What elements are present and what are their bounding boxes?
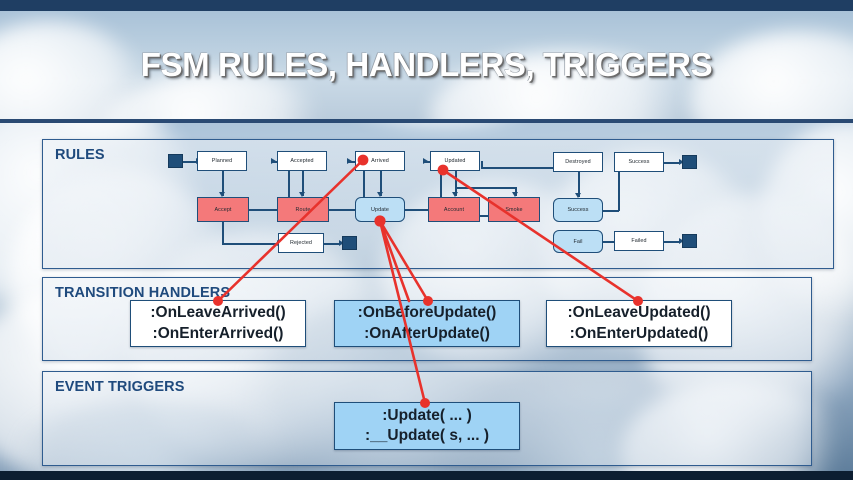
fsm-node-label: Destroyed [565, 159, 590, 165]
edge-rejected-end [324, 243, 340, 245]
fsm-node-route[interactable]: Route [277, 197, 329, 222]
arrowhead [423, 158, 428, 164]
fsm-node-end2[interactable] [682, 155, 697, 169]
handler-box-arrived[interactable]: :OnLeaveArrived() :OnEnterArrived() [130, 300, 306, 347]
fsm-node-start1[interactable] [168, 154, 183, 168]
arrowhead [347, 158, 352, 164]
section-title-triggers: EVENT TRIGGERS [55, 379, 185, 395]
fsm-node-success-action[interactable]: Success [553, 198, 603, 222]
handler-line-1: :OnLeaveUpdated() [568, 303, 711, 323]
fsm-node-success-state[interactable]: Success [614, 152, 664, 172]
fsm-node-accept[interactable]: Accept [197, 197, 249, 222]
edge-successB-end [664, 162, 680, 164]
fsm-node-label: Success [567, 207, 588, 213]
fsm-node-label: Account [444, 207, 464, 213]
fsm-node-rejected[interactable]: Rejected [278, 233, 324, 253]
edge-updated-split [455, 187, 516, 189]
fsm-node-update[interactable]: Update [355, 197, 405, 222]
bottom-accent-bar [0, 471, 853, 480]
fsm-node-label: Updated [444, 158, 465, 164]
arrowhead [271, 158, 276, 164]
handler-line-2: :OnEnterUpdated() [570, 324, 709, 344]
fsm-node-destroyed[interactable]: Destroyed [553, 152, 603, 172]
edge-start-planned [183, 161, 197, 163]
edge-updated-branch [481, 161, 483, 168]
fsm-node-fail[interactable]: Fail [553, 230, 603, 253]
fsm-node-label: Smoke [505, 207, 522, 213]
fsm-node-account[interactable]: Account [428, 197, 480, 222]
fsm-node-planned[interactable]: Planned [197, 151, 247, 171]
fsm-node-label: Accepted [290, 158, 313, 164]
edge-accept-rejected [222, 243, 278, 245]
fsm-node-label: Failed [631, 238, 646, 244]
fsm-node-updated[interactable]: Updated [430, 151, 480, 171]
fsm-node-label: Fail [573, 239, 582, 245]
fsm-node-label: Planned [212, 158, 232, 164]
fsm-node-end1[interactable] [342, 236, 357, 250]
edge-updated-destroyed [481, 167, 555, 169]
fsm-node-label: Rejected [290, 240, 312, 246]
section-title-handlers: TRANSITION HANDLERS [55, 285, 230, 301]
handler-box-updated[interactable]: :OnLeaveUpdated() :OnEnterUpdated() [546, 300, 732, 347]
trigger-line-1: :Update( ... ) [382, 406, 472, 426]
handler-line-1: :OnBeforeUpdate() [358, 303, 497, 323]
fsm-node-arrived[interactable]: Arrived [355, 151, 405, 171]
title-underline [0, 119, 853, 123]
edge-failed-end [664, 241, 680, 243]
page-title: FSM RULES, HANDLERS, TRIGGERS [0, 46, 853, 84]
top-accent-bar [0, 0, 853, 11]
trigger-box-update[interactable]: :Update( ... ) :__Update( s, ... ) [334, 402, 520, 450]
fsm-node-accepted[interactable]: Accepted [277, 151, 327, 171]
edge-updated-down [455, 171, 457, 188]
fsm-node-failed[interactable]: Failed [614, 231, 664, 251]
fsm-node-label: Update [371, 207, 389, 213]
handler-line-2: :OnEnterArrived() [153, 324, 284, 344]
fsm-node-smoke[interactable]: Smoke [488, 197, 540, 222]
handler-box-update[interactable]: :OnBeforeUpdate() :OnAfterUpdate() [334, 300, 520, 347]
handler-line-2: :OnAfterUpdate() [364, 324, 490, 344]
handler-line-1: :OnLeaveArrived() [150, 303, 285, 323]
edge-successA-right [603, 210, 619, 212]
trigger-line-2: :__Update( s, ... ) [365, 426, 489, 446]
edge-accept-down [222, 222, 224, 244]
fsm-node-label: Accept [214, 207, 231, 213]
fsm-node-end3[interactable] [682, 234, 697, 248]
fsm-node-label: Arrived [371, 158, 389, 164]
fsm-node-label: Success [628, 159, 649, 165]
section-title-rules: RULES [55, 147, 105, 163]
fsm-node-label: Route [296, 207, 311, 213]
